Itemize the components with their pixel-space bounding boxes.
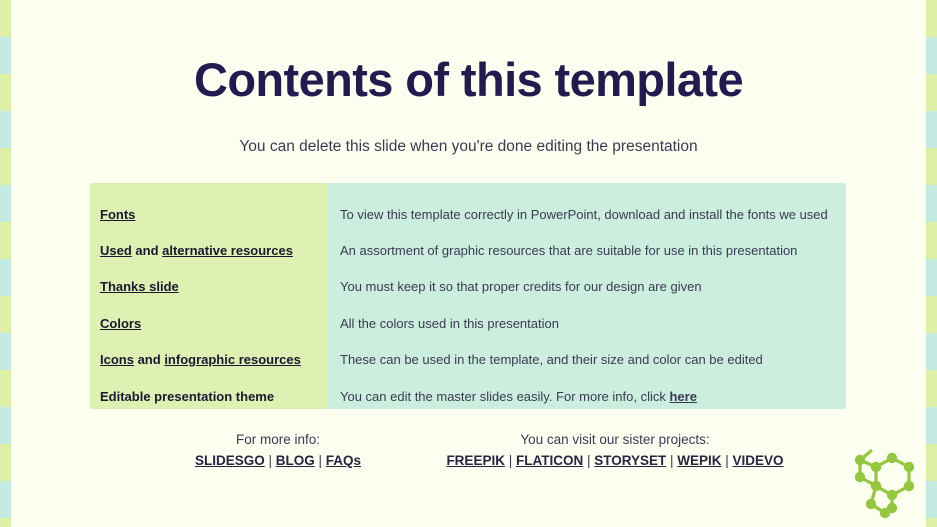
contents-table: Fonts Used and alternative resources Tha… [90, 183, 846, 409]
link-separator: | [505, 453, 516, 468]
footer-sister-projects-links[interactable]: FREEPIK | FLATICON | STORYSET | WEPIK | … [420, 451, 810, 472]
footer-link-blog[interactable]: BLOG [276, 453, 315, 468]
table-label-text: Editable presentation theme [100, 389, 274, 404]
table-row-label[interactable]: Colors [100, 305, 328, 341]
table-label-link[interactable]: Used [100, 243, 132, 258]
footer-link-freepik[interactable]: FREEPIK [446, 453, 505, 468]
slide-canvas: Contents of this template You can delete… [0, 0, 937, 527]
footer-more-info: For more info: SLIDESGO | BLOG | FAQs [118, 430, 438, 472]
footer-link-storyset[interactable]: STORYSET [594, 453, 666, 468]
table-label-text: and [132, 243, 162, 258]
table-row-description: You must keep it so that proper credits … [340, 269, 846, 305]
table-label-text: and [134, 352, 164, 367]
page-title: Contents of this template [0, 54, 937, 106]
footer-link-wepik[interactable]: WEPIK [677, 453, 721, 468]
footer-sister-projects: You can visit our sister projects: FREEP… [420, 430, 810, 472]
table-row-label[interactable]: Icons and infographic resources [100, 342, 328, 378]
table-row-description: These can be used in the template, and t… [340, 342, 846, 378]
link-separator: | [666, 453, 677, 468]
footer-more-info-links[interactable]: SLIDESGO | BLOG | FAQs [118, 451, 438, 472]
table-label-link[interactable]: infographic resources [164, 352, 301, 367]
footer-link-faqs[interactable]: FAQs [326, 453, 361, 468]
table-row-description: All the colors used in this presentation [340, 305, 846, 341]
link-separator: | [722, 453, 733, 468]
table-label-link[interactable]: alternative resources [162, 243, 293, 258]
table-label-link[interactable]: Icons [100, 352, 134, 367]
table-label-link[interactable]: Colors [100, 316, 141, 331]
contents-table-descriptions-column: To view this template correctly in Power… [328, 183, 846, 409]
footer-link-slidesgo[interactable]: SLIDESGO [195, 453, 265, 468]
table-row-label[interactable]: Used and alternative resources [100, 232, 328, 268]
here-link[interactable]: here [669, 389, 696, 404]
table-row-label[interactable]: Editable presentation theme [100, 378, 328, 414]
footer-sister-projects-heading: You can visit our sister projects: [420, 430, 810, 451]
table-label-link[interactable]: Thanks slide [100, 279, 179, 294]
table-label-link[interactable]: Fonts [100, 207, 135, 222]
link-separator: | [583, 453, 594, 468]
contents-table-labels-column: Fonts Used and alternative resources Tha… [90, 183, 328, 409]
table-row-description: You can edit the master slides easily. F… [340, 378, 846, 414]
table-row-label[interactable]: Thanks slide [100, 269, 328, 305]
table-row-description: To view this template correctly in Power… [340, 196, 846, 232]
table-row-description: An assortment of graphic resources that … [340, 232, 846, 268]
link-separator: | [265, 453, 276, 468]
footer-link-flaticon[interactable]: FLATICON [516, 453, 583, 468]
link-separator: | [315, 453, 326, 468]
table-row-label[interactable]: Fonts [100, 196, 328, 232]
molecule-icon [845, 444, 925, 524]
footer-more-info-heading: For more info: [118, 430, 438, 451]
page-subtitle: You can delete this slide when you're do… [0, 138, 937, 156]
footer-link-videvo[interactable]: VIDEVO [733, 453, 784, 468]
